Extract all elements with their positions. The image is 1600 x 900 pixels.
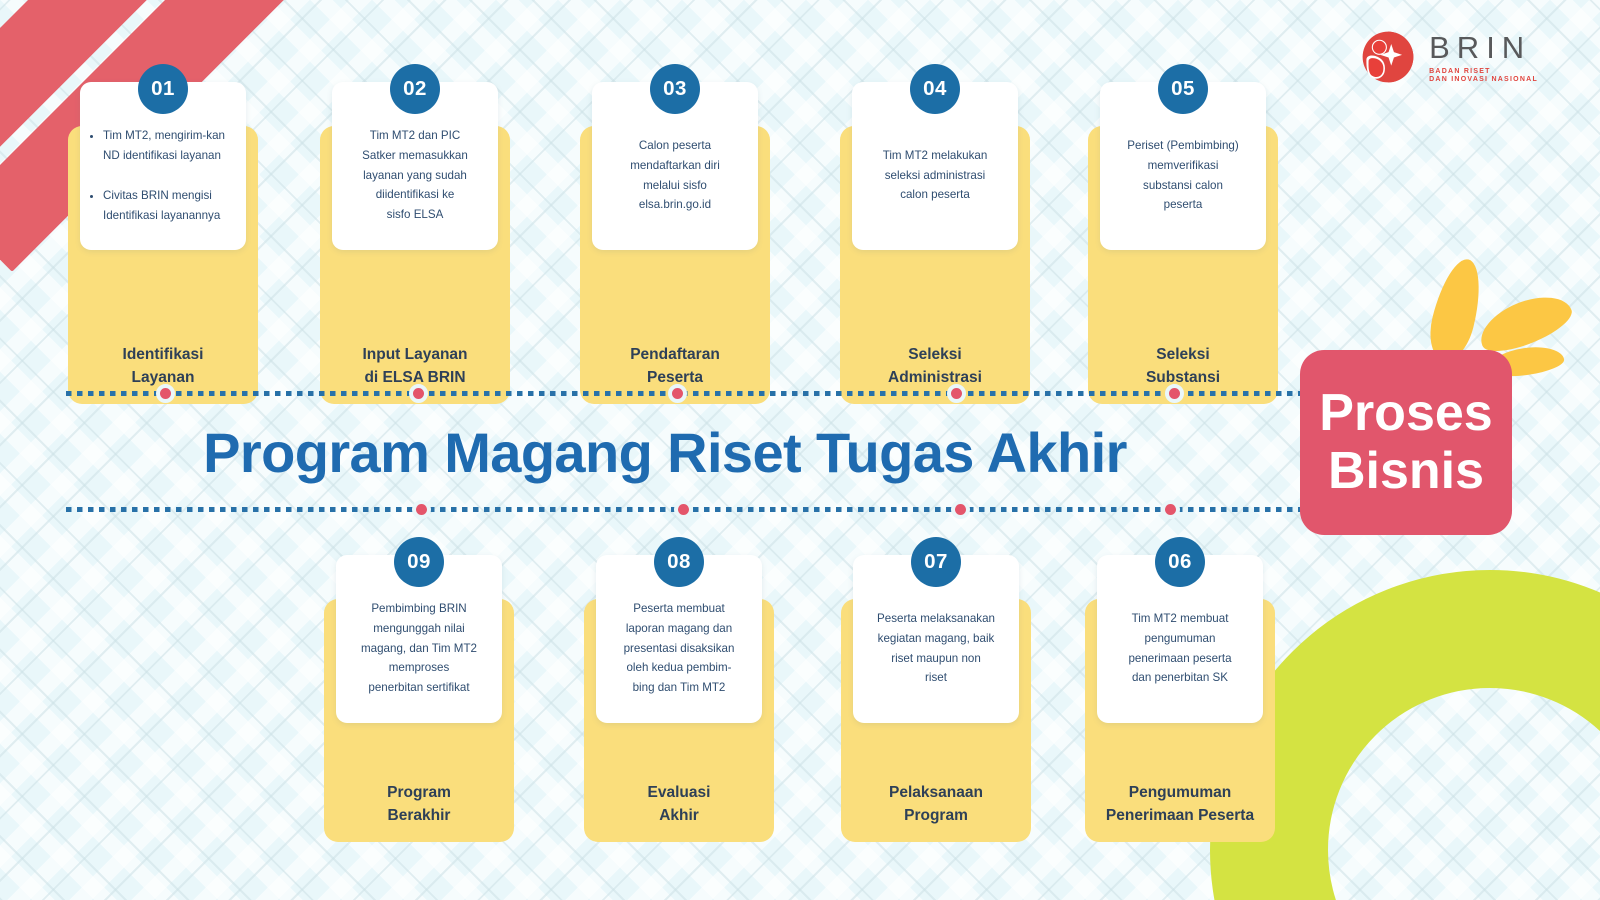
step-card-04-body: Tim MT2 melakukan seleksi administrasi c… — [872, 116, 999, 217]
proses-bisnis-box: Proses Bisnis — [1300, 350, 1512, 535]
step-card-03-number-badge: 03 — [650, 64, 700, 114]
proses-bisnis-line2: Bisnis — [1328, 445, 1484, 498]
step-card-07-caption: Pelaksanaan Program — [841, 782, 1031, 842]
brin-tagline-line1: BADAN RISET — [1429, 68, 1538, 75]
step-card-01-number-badge: 01 — [138, 64, 188, 114]
timeline-upper-dot-5 — [1165, 384, 1184, 403]
step-card-07-number-badge: 07 — [911, 537, 961, 587]
infographic-canvas: BRIN BADAN RISET DAN INOVASI NASIONAL Id… — [0, 0, 1600, 900]
brin-logo: BRIN BADAN RISET DAN INOVASI NASIONAL — [1361, 30, 1538, 84]
step-card-06-number-badge: 06 — [1155, 537, 1205, 587]
splash-shape-1 — [1423, 254, 1489, 365]
timeline-upper-dot-2 — [409, 384, 428, 403]
step-card-01-bullet-2: Civitas BRIN mengisi Identifikasi layana… — [103, 186, 238, 226]
step-card-03-body: Calon peserta mendaftarkan diri melalui … — [619, 106, 731, 227]
step-card-01-bullet-1: Tim MT2, mengirim-kan ND identifikasi la… — [103, 126, 238, 166]
brin-tagline-line2: DAN INOVASI NASIONAL — [1429, 76, 1538, 83]
timeline-upper-dot-4 — [947, 384, 966, 403]
step-card-08-body: Peserta membuat laporan magang dan prese… — [613, 569, 746, 710]
step-card-09-caption: Program Berakhir — [324, 782, 514, 842]
step-card-05-body: Periset (Pembimbing) memverifikasi subst… — [1116, 106, 1249, 227]
brin-mark-icon — [1361, 30, 1415, 84]
step-card-02-number-badge: 02 — [390, 64, 440, 114]
step-card-08-number-badge: 08 — [654, 537, 704, 587]
step-card-09-number-badge: 09 — [394, 537, 444, 587]
timeline-lower-dot-3 — [951, 500, 970, 519]
step-card-04-number-badge: 04 — [910, 64, 960, 114]
timeline-upper-dot-1 — [156, 384, 175, 403]
step-card-07-body: Peserta melaksanakan kegiatan magang, ba… — [866, 579, 1006, 700]
step-card-09-body: Pembimbing BRIN mengunggah nilai magang,… — [350, 569, 488, 710]
page-title: Program Magang Riset Tugas Akhir — [0, 420, 1330, 485]
step-card-02-body: Tim MT2 dan PIC Satker memasukkan layana… — [351, 96, 479, 237]
timeline-lower-dot-4 — [1161, 500, 1180, 519]
step-card-05-number-badge: 05 — [1158, 64, 1208, 114]
step-card-06-caption: Pengumuman Penerimaan Peserta — [1085, 782, 1275, 842]
proses-bisnis-line1: Proses — [1319, 387, 1492, 440]
timeline-lower-dot-2 — [674, 500, 693, 519]
timeline-lower-dot-1 — [412, 500, 431, 519]
step-card-08-caption: Evaluasi Akhir — [584, 782, 774, 842]
brin-wordmark: BRIN — [1429, 32, 1538, 63]
step-card-06-body: Tim MT2 membuat pengumuman penerimaan pe… — [1117, 579, 1242, 700]
timeline-upper-dot-3 — [668, 384, 687, 403]
